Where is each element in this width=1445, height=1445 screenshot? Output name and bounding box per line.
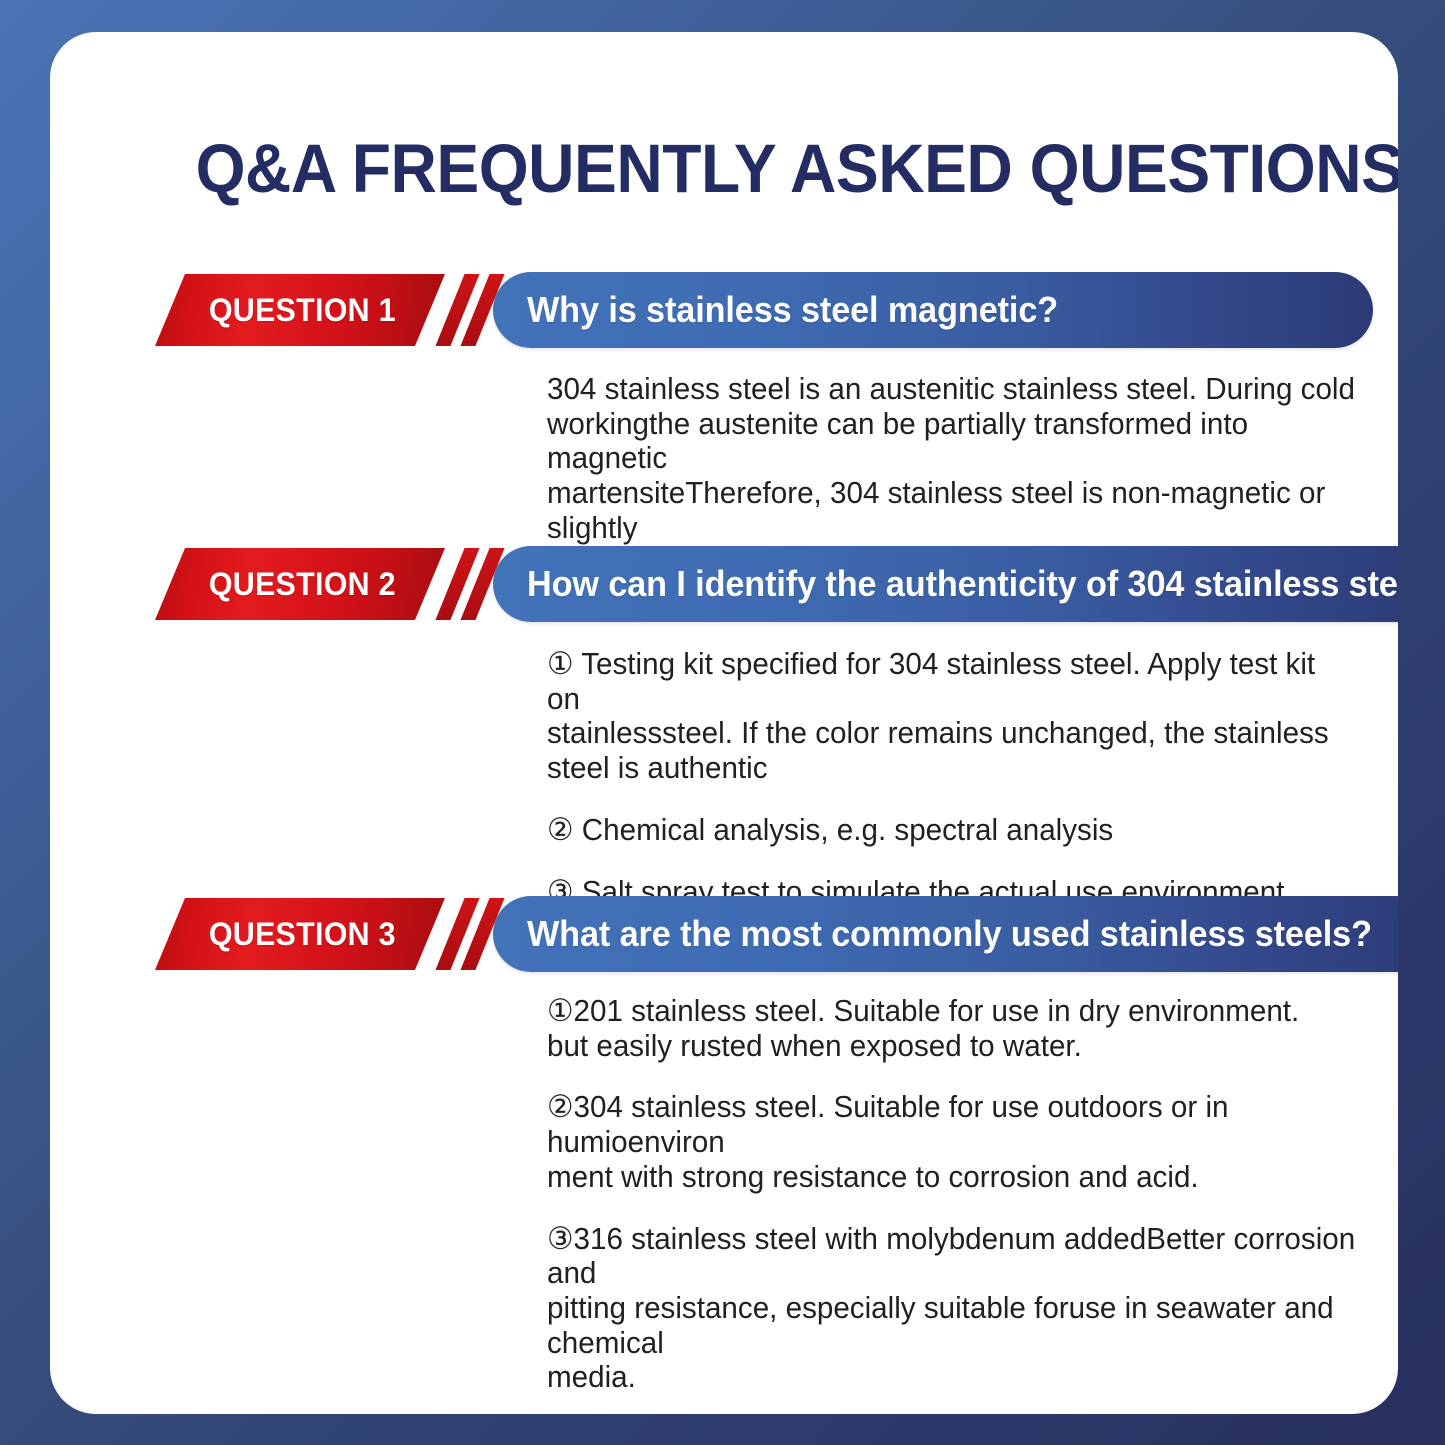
question-tag-label-1: QUESTION 1: [208, 292, 395, 329]
answer-paragraph: ①201 stainless steel. Suitable for use i…: [547, 994, 1397, 1063]
question-tag-3[interactable]: QUESTION 3: [155, 898, 445, 970]
question-heading-label-1: Why is stainless steel magnetic?: [527, 289, 1058, 331]
question-heading-pill-3[interactable]: What are the most commonly used stainles…: [493, 896, 1398, 972]
question-tag-label-3: QUESTION 3: [208, 916, 395, 953]
page-title: Q&A FREQUENTLY ASKED QUESTIONS: [196, 129, 1275, 208]
answer-block-3: ①201 stainless steel. Suitable for use i…: [547, 994, 1398, 1414]
answer-paragraph: ②304 stainless steel. Suitable for use o…: [547, 1090, 1397, 1194]
faq-card: Q&A FREQUENTLY ASKED QUESTIONS QUESTION …: [50, 32, 1398, 1414]
question-heading-label-3: What are the most commonly used stainles…: [527, 913, 1372, 955]
answer-paragraph: ① Testing kit specified for 304 stainles…: [547, 647, 1349, 786]
answer-paragraph: ③316 stainless steel with molybdenum add…: [547, 1222, 1397, 1396]
question-heading-pill-2[interactable]: How can I identify the authenticity of 3…: [493, 546, 1398, 622]
answer-block-2: ① Testing kit specified for 304 stainles…: [547, 647, 1387, 909]
question-tag-1[interactable]: QUESTION 1: [155, 274, 445, 346]
answer-paragraph: ② Chemical analysis, e.g. spectral analy…: [547, 813, 1349, 848]
question-heading-pill-1[interactable]: Why is stainless steel magnetic?: [493, 272, 1373, 348]
question-heading-label-2: How can I identify the authenticity of 3…: [527, 563, 1398, 605]
question-tag-label-2: QUESTION 2: [208, 566, 395, 603]
question-tag-2[interactable]: QUESTION 2: [155, 548, 445, 620]
